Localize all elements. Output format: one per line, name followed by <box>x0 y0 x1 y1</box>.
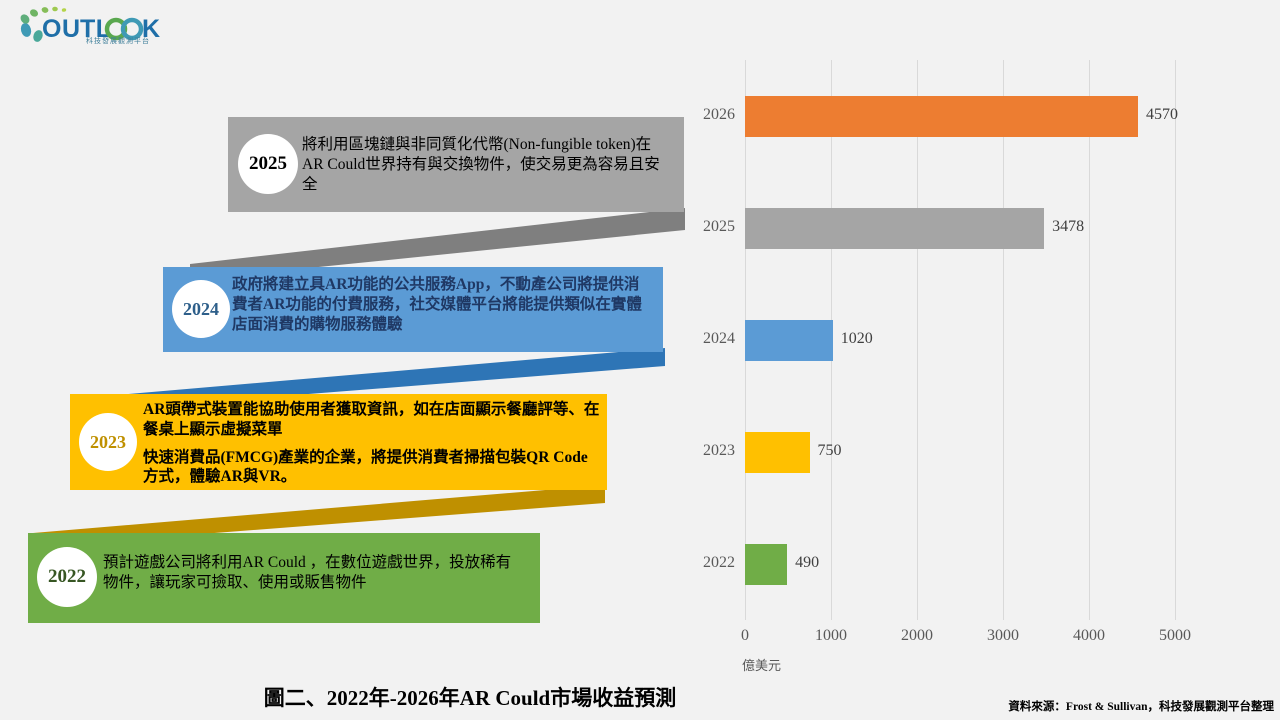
timeline-text-2025: 將利用區塊鏈與非同質化代幣(Non-fungible token)在AR Cou… <box>302 135 667 196</box>
chart-bar[interactable] <box>745 96 1138 137</box>
chart-category-label-2025: 2025 <box>680 218 735 236</box>
timeline-year-badge-2024: 2024 <box>172 280 230 338</box>
timeline-paragraph: AR頭帶式裝置能協助使用者獲取資訊，如在店面顯示餐廳評等、在餐桌上顯示虛擬菜單 <box>143 400 601 440</box>
logo-subtitle: 科技發展觀測平台 <box>86 36 150 46</box>
chart-gridline <box>1003 60 1004 620</box>
chart-category-label-2023: 2023 <box>680 442 735 460</box>
chart-bar-value-label: 750 <box>818 442 842 460</box>
chart-gridline <box>1175 60 1176 620</box>
timeline-year-label: 2022 <box>48 566 86 588</box>
chart-bar[interactable] <box>745 208 1044 249</box>
chart-xtick-label: 2000 <box>887 627 947 645</box>
timeline-text-2022: 預計遊戲公司將利用AR Could ，在數位遊戲世界，投放稀有物件，讓玩家可撿取… <box>103 553 523 595</box>
chart-bar-value-label: 1020 <box>841 330 873 348</box>
chart-xtick-label: 3000 <box>973 627 1033 645</box>
chart-gridline <box>1089 60 1090 620</box>
chart-bar-value-label: 3478 <box>1052 218 1084 236</box>
chart-gridline <box>917 60 918 620</box>
chart-xtick-label: 5000 <box>1145 627 1205 645</box>
chart-bar[interactable] <box>745 432 810 473</box>
timeline-year-badge-2022: 2022 <box>37 547 97 607</box>
timeline-year-label: 2025 <box>249 153 287 175</box>
figure-title: 圖二、2022年-2026年AR Could市場收益預測 <box>0 682 940 712</box>
svg-text:OU: OU <box>42 15 81 43</box>
chart-xtick-label: 1000 <box>801 627 861 645</box>
market-revenue-bar-chart: 490750102034784570 20222023202420252026 … <box>680 55 1200 675</box>
timeline-text-2023: AR頭帶式裝置能協助使用者獲取資訊，如在店面顯示餐廳評等、在餐桌上顯示虛擬菜單 … <box>143 400 601 489</box>
chart-bar-value-label: 4570 <box>1146 106 1178 124</box>
chart-xaxis-label: 億美元 <box>742 655 781 674</box>
chart-xtick-label: 0 <box>715 627 775 645</box>
source-note: 資料來源：Frost & Sullivan，科技發展觀測平台整理 <box>1008 698 1274 714</box>
timeline-year-badge-2023: 2023 <box>79 413 137 471</box>
timeline-paragraph: 預計遊戲公司將利用AR Could ，在數位遊戲世界，投放稀有物件，讓玩家可撿取… <box>103 553 523 593</box>
chart-category-label-2022: 2022 <box>680 554 735 572</box>
timeline-paragraph: 政府將建立具AR功能的公共服務App，不動產公司將提供消費者AR功能的付費服務，… <box>232 275 652 334</box>
outlook-logo: OU TL K 科技發展觀測平台 <box>12 6 192 50</box>
chart-category-label-2026: 2026 <box>680 106 735 124</box>
chart-bar[interactable] <box>745 544 787 585</box>
timeline-text-2024: 政府將建立具AR功能的公共服務App，不動產公司將提供消費者AR功能的付費服務，… <box>232 275 652 336</box>
chart-bar-value-label: 490 <box>795 554 819 572</box>
timeline-paragraph: 快速消費品(FMCG)產業的企業，將提供消費者掃描包裝QR Code方式，體驗A… <box>143 448 601 488</box>
chart-xtick-label: 4000 <box>1059 627 1119 645</box>
timeline-year-label: 2024 <box>183 299 219 320</box>
chart-plot-area: 490750102034784570 <box>745 60 1175 620</box>
timeline-year-label: 2023 <box>90 432 126 453</box>
timeline-paragraph: 將利用區塊鏈與非同質化代幣(Non-fungible token)在AR Cou… <box>302 135 667 194</box>
chart-category-label-2024: 2024 <box>680 330 735 348</box>
timeline-year-badge-2025: 2025 <box>238 134 298 194</box>
chart-bar[interactable] <box>745 320 833 361</box>
